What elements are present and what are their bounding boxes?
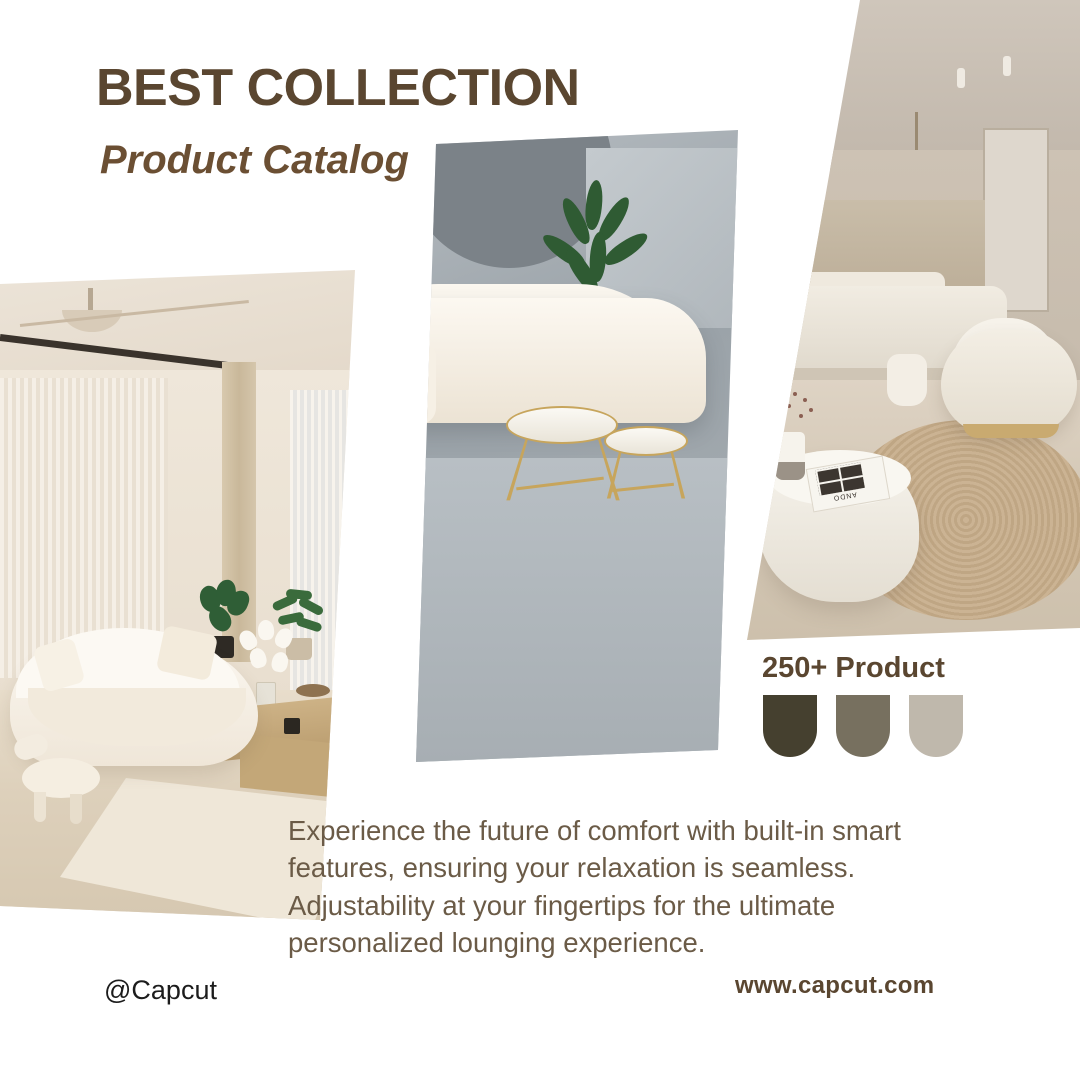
studio-curved-sofa: [366, 298, 706, 423]
description-text: Experience the future of comfort with bu…: [288, 812, 958, 962]
studio-floor: [318, 458, 738, 762]
lily-bouquet: [238, 618, 304, 682]
ottoman-leg-left: [34, 792, 46, 822]
wooden-bowl: [296, 684, 330, 697]
product-count-label: 250+ Product: [762, 652, 945, 685]
swatch-dark-olive[interactable]: [763, 695, 817, 757]
color-swatch-group: [763, 695, 963, 757]
page-title: BEST COLLECTION: [96, 62, 580, 114]
nesting-table-small-top: [604, 426, 688, 456]
nesting-table-large-top: [506, 406, 618, 444]
studio-sofa-photo: [318, 130, 738, 762]
side-stool: [887, 354, 927, 406]
dark-cup: [284, 718, 300, 734]
boucle-armchair: [941, 330, 1077, 434]
studio-sofa-arm: [364, 346, 436, 424]
spotlight-icon-1: [957, 68, 965, 88]
ceramic-vase: [775, 432, 805, 480]
bedroom-photo: ANDO: [735, 0, 1080, 640]
swatch-taupe[interactable]: [836, 695, 890, 757]
spotlight-icon-2: [1003, 56, 1011, 76]
page-subtitle: Product Catalog: [100, 138, 409, 182]
bedroom-scene: ANDO: [735, 0, 1080, 640]
website-url[interactable]: www.capcut.com: [735, 972, 934, 1000]
social-handle: @Capcut: [104, 975, 217, 1006]
armchair-gold-base: [963, 424, 1059, 438]
studio-sofa-scene: [318, 130, 738, 762]
nesting-table-large-legs: [506, 438, 619, 500]
swatch-light-greige[interactable]: [909, 695, 963, 757]
poster-canvas: BEST COLLECTION Product Catalog: [0, 0, 1080, 1080]
ottoman-leg-right: [70, 794, 82, 824]
bedroom-door: [983, 128, 1049, 312]
